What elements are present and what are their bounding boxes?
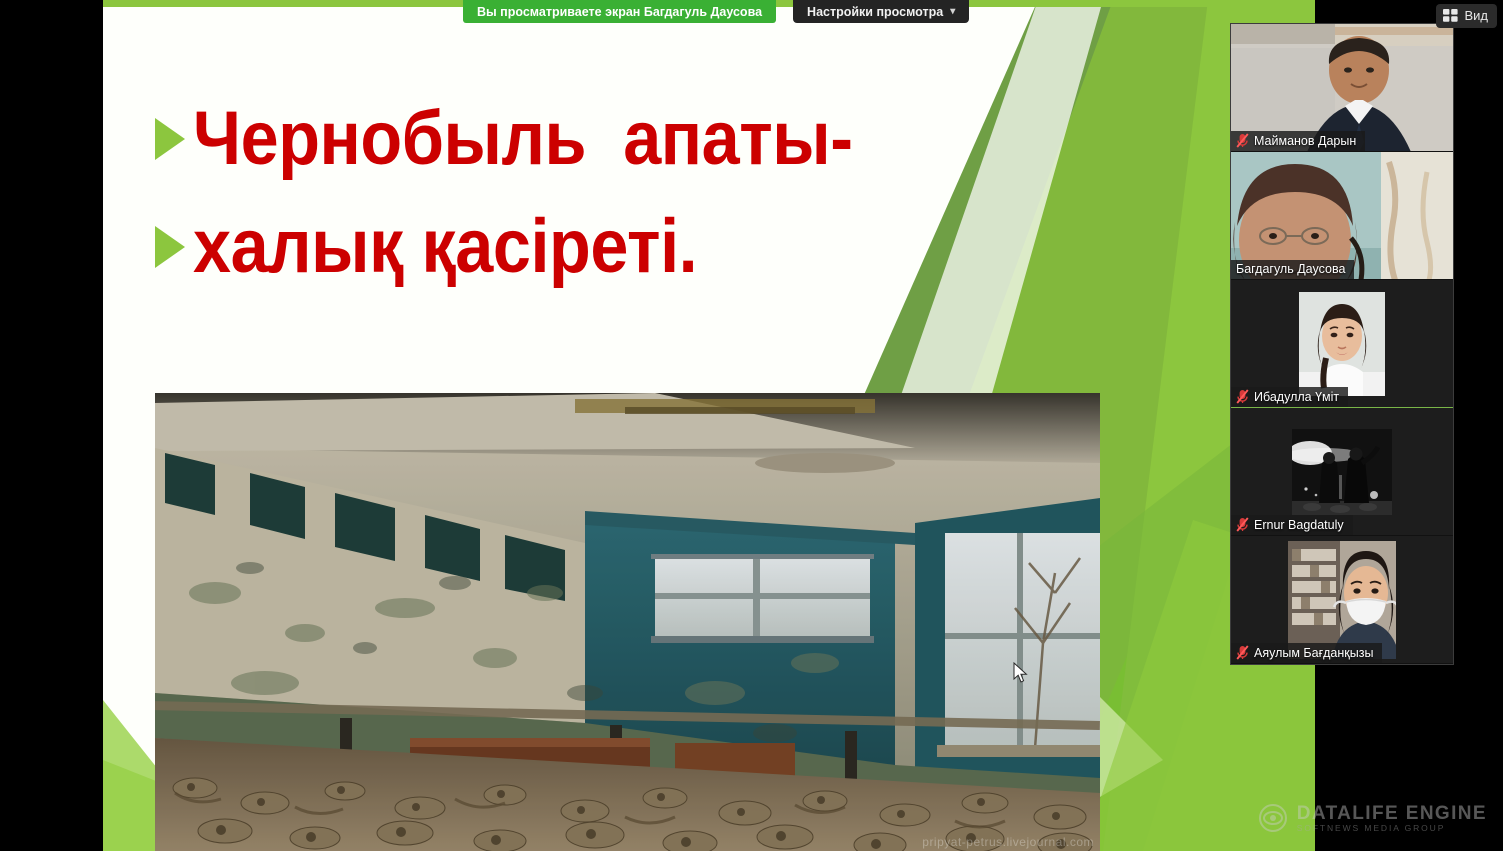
view-settings-button[interactable]: Настройки просмотра ▾ bbox=[793, 0, 969, 23]
participant-tile[interactable]: Ernur Bagdatuly bbox=[1231, 408, 1453, 536]
view-layout-button[interactable]: Вид bbox=[1436, 4, 1497, 28]
view-settings-label: Настройки просмотра bbox=[807, 5, 943, 19]
microphone-muted-icon bbox=[1236, 389, 1249, 404]
participant-name: Майманов Дарын bbox=[1254, 134, 1356, 148]
participant-label: Ernur Bagdatuly bbox=[1231, 515, 1353, 535]
watermark-title: DATALIFE ENGINE bbox=[1297, 804, 1487, 824]
shared-screen-region[interactable]: Чернобыль апаты- халық қасіреті. bbox=[103, 0, 1315, 851]
slide-title-line-1: Чернобыль апаты- bbox=[155, 85, 1115, 193]
triangle-bullet-icon bbox=[155, 118, 185, 160]
watermark-subtitle: SOFTNEWS MEDIA GROUP bbox=[1297, 824, 1487, 833]
screen-share-banner: Вы просматриваете экран Багдагуль Даусов… bbox=[463, 0, 969, 23]
participant-still-photo bbox=[1288, 541, 1396, 659]
participant-label: Аяулым Бағданқызы bbox=[1231, 643, 1382, 663]
chevron-down-icon: ▾ bbox=[950, 6, 955, 17]
participant-name: Ибадулла Үміт bbox=[1254, 390, 1339, 404]
participant-tile[interactable]: Майманов Дарын bbox=[1231, 24, 1453, 152]
abandoned-classroom-illustration bbox=[155, 393, 1100, 851]
participant-still-photo bbox=[1292, 429, 1392, 515]
microphone-muted-icon bbox=[1236, 517, 1249, 532]
slide-title-line-2: халық қасіреті. bbox=[155, 193, 1115, 301]
participant-label: Ибадулла Үміт bbox=[1231, 387, 1348, 407]
slide-title-block: Чернобыль апаты- халық қасіреті. bbox=[155, 85, 1115, 301]
share-status-pill: Вы просматриваете экран Багдагуль Даусов… bbox=[463, 0, 776, 23]
participant-tile[interactable]: Ибадулла Үміт bbox=[1231, 280, 1453, 408]
participant-name: Ernur Bagdatuly bbox=[1254, 518, 1344, 532]
view-layout-label: Вид bbox=[1464, 8, 1488, 23]
microphone-muted-icon bbox=[1236, 133, 1249, 148]
participant-still-photo bbox=[1299, 292, 1385, 396]
participant-filmstrip[interactable]: Майманов Дарын bbox=[1230, 23, 1454, 665]
slide-title-text-2: халық қасіреті. bbox=[193, 209, 697, 285]
mouse-pointer-icon bbox=[1013, 662, 1029, 684]
screen-share-window: Чернобыль апаты- халық қасіреті. bbox=[0, 0, 1503, 851]
slide-title-text-1: Чернобыль апаты- bbox=[193, 101, 853, 177]
participant-name: Багдагуль Даусова bbox=[1236, 262, 1345, 276]
microphone-muted-icon bbox=[1236, 645, 1249, 660]
presentation-slide: Чернобыль апаты- халық қасіреті. bbox=[103, 0, 1315, 851]
portrait-young-woman-photo bbox=[1299, 292, 1385, 396]
share-status-text: Вы просматриваете экран Багдагуль Даусов… bbox=[477, 5, 762, 19]
participant-tile[interactable]: Аяулым Бағданқызы bbox=[1231, 536, 1453, 664]
participant-name: Аяулым Бағданқызы bbox=[1254, 646, 1373, 660]
grid-view-icon bbox=[1443, 9, 1458, 22]
participant-label: Багдагуль Даусова bbox=[1231, 260, 1354, 279]
blackwhite-two-people-photo bbox=[1292, 429, 1392, 515]
participant-tile[interactable]: Багдагуль Даусова bbox=[1231, 152, 1453, 280]
photo-credit-watermark: pripyat-petrus.livejournal.com bbox=[922, 835, 1094, 849]
participant-label: Майманов Дарын bbox=[1231, 131, 1365, 151]
woman-face-mask-photo bbox=[1288, 541, 1396, 659]
slide-photograph: pripyat-petrus.livejournal.com bbox=[155, 393, 1100, 851]
triangle-bullet-icon bbox=[155, 226, 185, 268]
